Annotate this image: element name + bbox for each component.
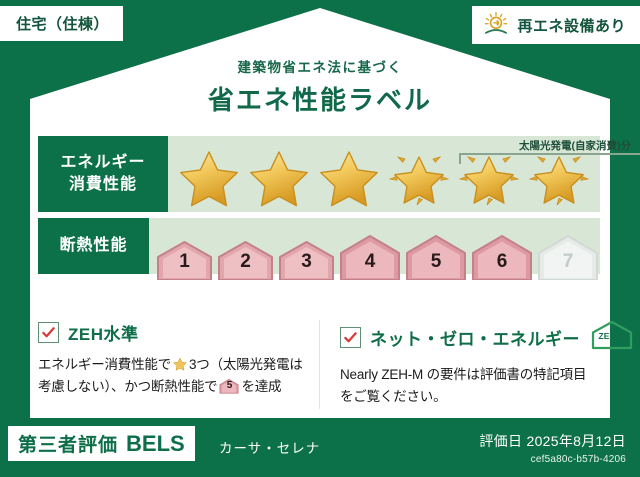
grade-value: 2 xyxy=(216,251,275,273)
grade-value: 6 xyxy=(470,251,534,273)
rating-rows: エネルギー 消費性能 太陽光発電(自家消費)分 xyxy=(38,136,600,280)
energy-performance-row: エネルギー 消費性能 太陽光発電(自家消費)分 xyxy=(38,136,600,212)
page-title: 省エネ性能ラベル xyxy=(0,80,640,117)
grade-value: 7 xyxy=(536,251,600,273)
svg-text:ZEH-M: ZEH-M xyxy=(599,331,626,341)
grade-badge: 6 xyxy=(470,234,534,280)
star-filled xyxy=(314,143,384,213)
grade-value: 3 xyxy=(277,251,336,273)
star-pv xyxy=(524,143,594,213)
insulation-performance-row: 断熱性能 1 2 xyxy=(38,218,600,274)
title-subtitle: 建築物省エネ法に基づく xyxy=(0,56,640,76)
insulation-row-label: 断熱性能 xyxy=(38,218,149,274)
check-icon xyxy=(340,327,361,348)
evaluation-date: 評価日 2025年8月12日 xyxy=(479,431,626,451)
nze-title: ネット・ゼロ・エネルギー xyxy=(370,325,580,350)
grade-badge: 4 xyxy=(338,234,402,280)
evaluation-date-label: 評価日 xyxy=(479,433,522,449)
check-icon xyxy=(38,322,59,343)
title-block: 建築物省エネ法に基づく 省エネ性能ラベル xyxy=(0,56,640,117)
zeh-desc-part3: を達成 xyxy=(241,379,281,394)
zeh-m-logo-icon: ZEH-M xyxy=(589,320,635,355)
building-name: カーサ・セレナ xyxy=(219,437,320,457)
zeh-title: ZEH水準 xyxy=(68,320,139,345)
bels-badge: 第三者評価 BELS xyxy=(8,426,195,461)
evaluation-id: cef5a80c-b57b-4206 xyxy=(479,454,626,465)
zeh-section-header: ZEH水準 xyxy=(38,320,313,345)
evaluation-info: 評価日 2025年8月12日 cef5a80c-b57b-4206 xyxy=(479,431,626,465)
grade-badge: 3 xyxy=(277,240,336,280)
net-zero-energy-section: ネット・ゼロ・エネルギー ZEH-M Nearly ZEH-M Nearly Z… xyxy=(319,320,600,409)
grade-badge: 1 xyxy=(155,240,214,280)
inline-star-icon xyxy=(172,356,188,372)
energy-label-line2: 消費性能 xyxy=(69,174,137,196)
grade-badge: 2 xyxy=(216,240,275,280)
grade-badge-inactive: 7 xyxy=(536,234,600,280)
inline-grade-value: 5 xyxy=(219,378,239,395)
footer-bar: 第三者評価 BELS カーサ・セレナ 評価日 2025年8月12日 cef5a8… xyxy=(0,420,640,477)
energy-row-body: 太陽光発電(自家消費)分 xyxy=(168,136,600,212)
zeh-description: エネルギー消費性能で 3つ（太陽光発電は考慮しない）、かつ断熱性能で 5 を達成 xyxy=(38,354,313,399)
evaluation-date-value: 2025年8月12日 xyxy=(526,433,626,449)
grade-badge: 5 xyxy=(404,234,468,280)
insulation-grade-scale: 1 2 3 xyxy=(149,218,600,284)
nze-description: Nearly ZEH-M の要件は評価書の特記項目をご覧ください。 xyxy=(340,364,594,409)
zeh-desc-part1: エネルギー消費性能で xyxy=(38,357,171,372)
bels-en-label: BELS xyxy=(126,431,185,457)
star-filled xyxy=(174,143,244,213)
bels-jp-label: 第三者評価 xyxy=(18,430,118,457)
inline-grade-badge: 5 xyxy=(219,377,239,395)
star-filled xyxy=(244,143,314,213)
star-pv xyxy=(384,143,454,213)
grade-value: 4 xyxy=(338,251,402,273)
energy-label-line1: エネルギー xyxy=(60,152,145,174)
sun-icon xyxy=(482,11,510,39)
renewable-equipment-chip: 再エネ設備あり xyxy=(472,6,640,44)
energy-performance-label: 住宅（住棟） 再エネ設備あり 建築物省エネ法に基づく xyxy=(0,0,640,477)
grade-value: 1 xyxy=(155,251,214,273)
energy-row-label: エネルギー 消費性能 xyxy=(38,136,168,212)
star-pv xyxy=(454,143,524,213)
building-type-chip: 住宅（住棟） xyxy=(0,6,123,41)
criteria-sections: ZEH水準 エネルギー消費性能で 3つ（太陽光発電は考慮しない）、かつ断熱性能で… xyxy=(38,320,600,409)
insulation-row-body: 1 2 3 xyxy=(149,218,600,274)
star-rating xyxy=(168,136,600,218)
grade-value: 5 xyxy=(404,251,468,273)
renewable-chip-label: 再エネ設備あり xyxy=(517,15,626,36)
zeh-section: ZEH水準 エネルギー消費性能で 3つ（太陽光発電は考慮しない）、かつ断熱性能で… xyxy=(38,320,319,409)
nze-section-header: ネット・ゼロ・エネルギー ZEH-M Nearly ZEH-M xyxy=(340,320,594,355)
